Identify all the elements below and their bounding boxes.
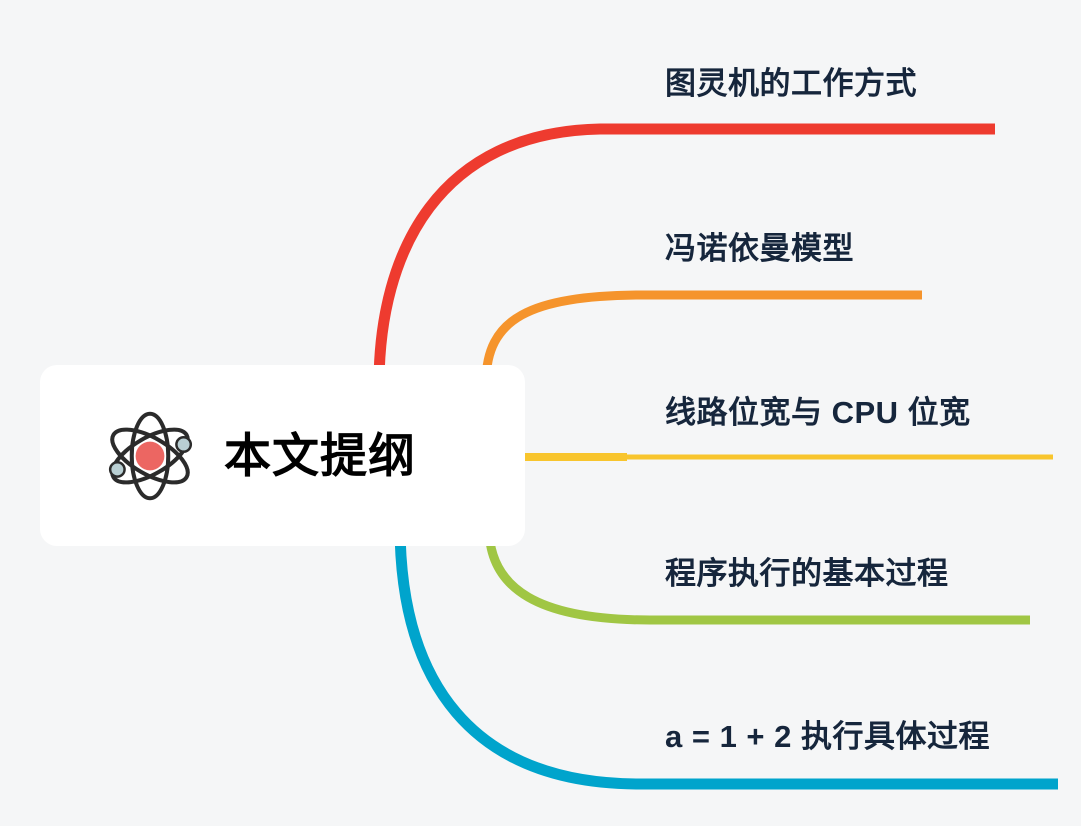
branch-label-2[interactable]: 线路位宽与 CPU 位宽 [665,397,971,428]
center-node-title: 本文提纲 [224,432,416,479]
atom-electron-lower-left [110,462,124,476]
atom-electron-upper-right [176,437,190,451]
branch-label-3[interactable]: 程序执行的基本过程 [665,558,949,589]
atom-icon [102,408,198,504]
branch-label-4[interactable]: a = 1 + 2 执行具体过程 [665,721,990,752]
mindmap-canvas: 本文提纲 图灵机的工作方式 冯诺依曼模型 线路位宽与 CPU 位宽 程序执行的基… [0,0,1081,826]
center-node-card[interactable]: 本文提纲 [40,365,525,546]
branch-label-1[interactable]: 冯诺依曼模型 [665,233,854,264]
branch-connector-1 [486,295,922,383]
branch-label-0[interactable]: 图灵机的工作方式 [665,68,917,99]
atom-nucleus [136,441,165,470]
